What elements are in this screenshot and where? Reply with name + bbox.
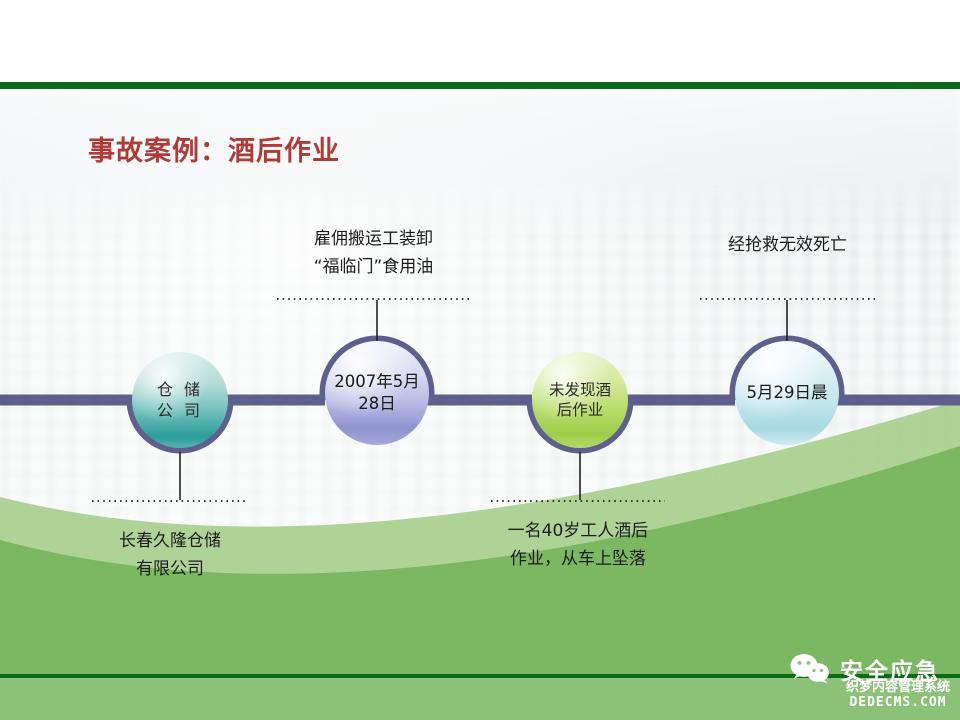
callout-company-name: 长春久隆仓储 有限公司: [92, 528, 248, 583]
slide-canvas: 事故案例：酒后作业 仓 储 公 司 2007年5月 28日 未发现酒 后作业 5…: [0, 0, 960, 720]
timeline-node-no-drunk-check[interactable]: 未发现酒 后作业: [532, 352, 628, 448]
callout-line: 一名40岁工人酒后: [491, 518, 665, 546]
page-title: 事故案例：酒后作业: [88, 129, 340, 168]
timeline-node-date-2007-05-28[interactable]: 2007年5月 28日: [325, 341, 429, 445]
node-line: 2007年5月: [334, 372, 420, 391]
node-line: 后作业: [557, 401, 604, 419]
watermark-line-1: 织梦内容管理系统: [846, 681, 950, 696]
callout-line: 长春久隆仓储: [92, 528, 248, 556]
node-line: 5月29日晨: [747, 383, 828, 402]
page-title-text: 事故案例：酒后作业: [88, 136, 340, 167]
callout-line: 作业，从车上坠落: [491, 546, 665, 574]
callout-died-after-rescue: 经抢救无效死亡: [700, 232, 875, 260]
timeline-node-label: 仓 储 公 司: [153, 379, 207, 421]
callout-line: 有限公司: [92, 556, 248, 584]
node-line: 28日: [358, 394, 396, 413]
timeline-node-label: 5月29日晨: [743, 382, 832, 404]
timeline-node-date-2007-05-29[interactable]: 5月29日晨: [735, 341, 839, 445]
node-line: 公 司: [157, 401, 203, 420]
callout-line: 经抢救无效死亡: [700, 232, 875, 260]
callout-line: 雇佣搬运工装卸: [277, 226, 470, 254]
timeline-node-warehouse-company[interactable]: 仓 储 公 司: [132, 352, 228, 448]
node-line: 仓 储: [157, 380, 203, 399]
callout-hire-porters: 雇佣搬运工装卸 “福临门”食用油: [277, 226, 470, 281]
node-line: 未发现酒: [549, 381, 611, 399]
wechat-icon: [788, 653, 832, 685]
callout-accident-detail: 一名40岁工人酒后 作业，从车上坠落: [491, 518, 665, 573]
watermark-line-2: DEDECMS.COM: [846, 696, 950, 711]
timeline-node-label: 2007年5月 28日: [330, 371, 424, 415]
timeline-node-label: 未发现酒 后作业: [545, 380, 615, 421]
callout-line: “福临门”食用油: [277, 254, 470, 282]
site-watermark: 织梦内容管理系统 DEDECMS.COM: [846, 681, 950, 710]
